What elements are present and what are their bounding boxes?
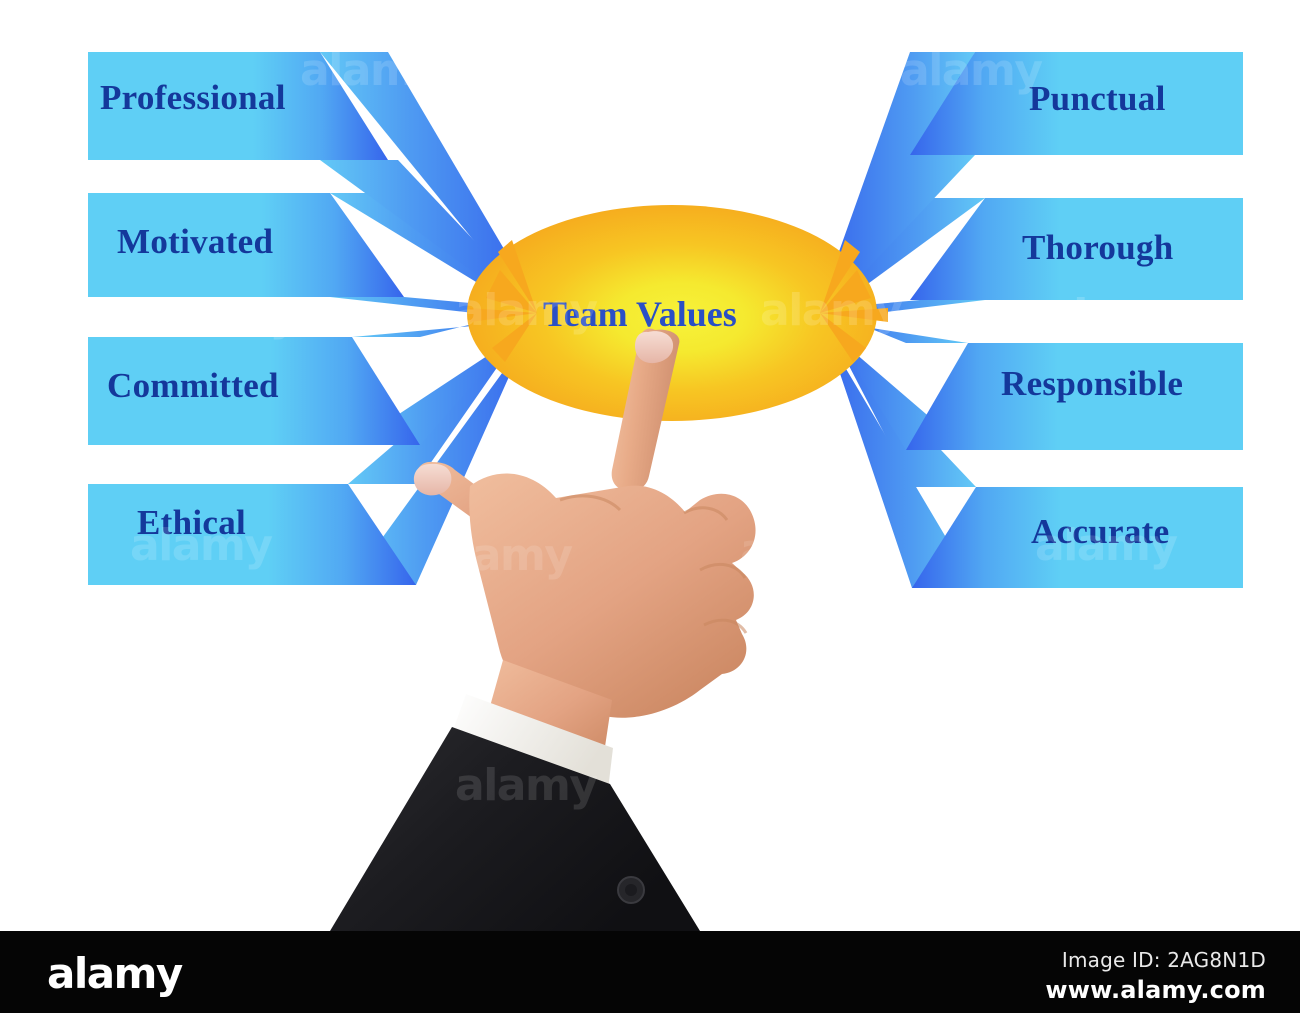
alamy-url-text: www.alamy.com (1045, 976, 1266, 1004)
thumb-nail (414, 464, 451, 496)
alamy-footer-bar: alamy Image ID: 2AG8N1D www.alamy.com (0, 931, 1300, 1013)
diagram-canvas (0, 0, 1300, 931)
alamy-logo: alamy (47, 953, 182, 995)
screenshot-root: Professional Motivated Committed Ethical… (0, 0, 1300, 1013)
center-node-label: Team Values (543, 293, 737, 335)
image-id-text: Image ID: 2AG8N1D (1062, 948, 1266, 972)
team-values-diagram: Professional Motivated Committed Ethical… (0, 0, 1300, 931)
